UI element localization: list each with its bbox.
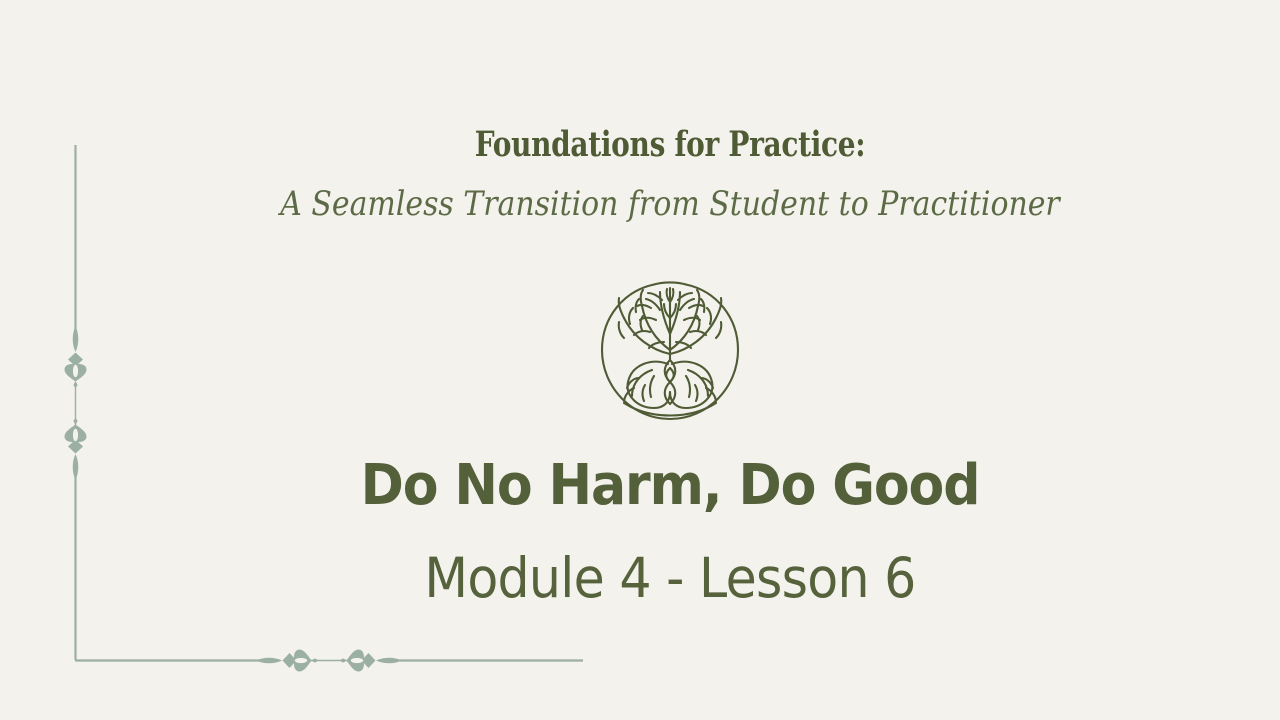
- scroll-flourish-inner-cut: [295, 658, 307, 663]
- leaf-stroke-ornament-mirrored: [376, 658, 402, 664]
- course-title: Foundations for Practice:: [246, 126, 1094, 165]
- logo-twig-r5: [680, 299, 694, 310]
- lesson-title: Do No Harm, Do Good: [177, 455, 1163, 517]
- logo-twig-r7: [707, 308, 711, 324]
- diamond-ornament-horizontal-mirrored: [362, 653, 376, 668]
- logo-root-tendril-r5: [686, 376, 690, 397]
- horizontal-ornament-cluster-right: [340, 650, 403, 672]
- lesson-subtitle: Module 4 - Lesson 6: [182, 548, 1157, 609]
- heart-flourish-inner-cut: [73, 365, 78, 377]
- logo-twig-r4: [689, 305, 703, 308]
- logo-root-tendril-l5: [650, 376, 654, 397]
- spindle-ornament-mirrored: [73, 454, 79, 480]
- logo-root-tendril-r4: [695, 385, 697, 401]
- vertical-ornament-cluster-upper: [65, 326, 87, 389]
- vertical-ornamental-divider: [65, 145, 87, 660]
- logo-twig-l5: [646, 299, 660, 310]
- diamond-ornament-mirrored: [68, 440, 83, 454]
- logo-circle-top-arc: [654, 282, 686, 284]
- tail-dot-ornament-horizontal-mirrored: [340, 658, 348, 662]
- tail-dot-ornament-mirrored: [73, 418, 77, 426]
- slide-canvas: Foundations for Practice: A Seamless Tra…: [0, 0, 1280, 720]
- tree-of-life-logo: [594, 272, 746, 432]
- leaf-stroke-ornament: [256, 658, 282, 664]
- logo-twig-l4: [637, 305, 651, 308]
- tail-dot-ornament-horizontal: [311, 658, 319, 662]
- logo-root-tendril-l4: [643, 385, 645, 401]
- diamond-ornament: [68, 353, 83, 367]
- tail-dot-ornament: [73, 381, 77, 389]
- logo-twig-l3: [640, 318, 656, 320]
- logo-bough-left-inner-tip: [641, 290, 643, 306]
- scroll-flourish-ornament: [294, 650, 311, 672]
- logo-twig-r9: [716, 322, 721, 338]
- logo-twig-l7: [629, 308, 633, 324]
- diamond-ornament-horizontal: [283, 653, 297, 668]
- heart-flourish-ornament: [65, 364, 87, 381]
- logo-twig-l9: [619, 322, 624, 338]
- horizontal-ornament-cluster-left: [256, 650, 319, 672]
- logo-bough-right-inner-tip: [697, 290, 699, 306]
- scroll-flourish-inner-cut-mirrored: [351, 658, 363, 663]
- heart-flourish-inner-cut-mirrored: [73, 429, 78, 441]
- scroll-flourish-ornament-mirrored: [347, 650, 364, 672]
- course-subtitle: A Seamless Transition from Student to Pr…: [204, 185, 1137, 224]
- horizontal-ornamental-divider: [75, 650, 583, 672]
- heart-flourish-ornament-mirrored: [65, 425, 87, 442]
- vertical-ornament-cluster-lower: [65, 418, 87, 481]
- logo-twig-r3: [684, 318, 700, 320]
- spindle-ornament: [73, 326, 79, 352]
